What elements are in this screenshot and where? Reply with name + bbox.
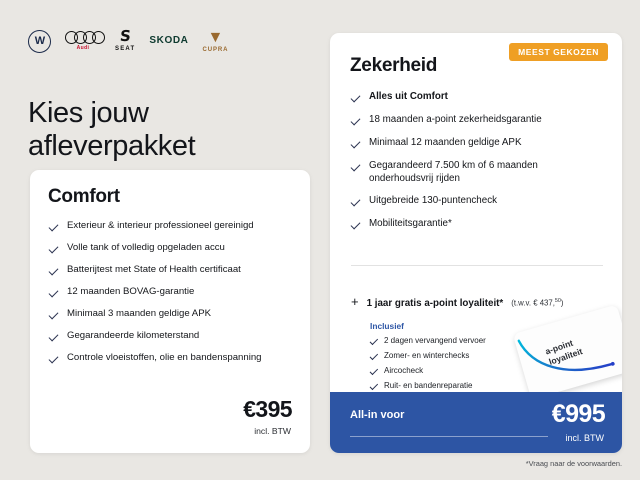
skoda-logo: SKODA — [149, 36, 188, 46]
seat-logo: S SEAT — [115, 30, 135, 52]
list-item: Uitgebreide 130-puntencheck — [351, 195, 603, 208]
cupra-tribal-icon: ▼ — [207, 30, 223, 46]
inclusief-item-text: Zomer- en winterchecks — [384, 351, 469, 360]
loyalty-value-suffix: ) — [561, 299, 564, 308]
feature-text: Minimaal 3 maanden geldige APK — [67, 308, 211, 320]
list-item: Batterijtest met State of Health certifi… — [49, 264, 297, 277]
check-icon — [351, 221, 361, 231]
audi-rings-icon — [65, 31, 101, 44]
list-item: Exterieur & interieur professioneel gere… — [49, 220, 297, 233]
zekerheid-feature-list: Alles uit Comfort 18 maanden a-point zek… — [351, 91, 603, 241]
zekerheid-package-card[interactable]: MEEST GEKOZEN Zekerheid Alles uit Comfor… — [330, 33, 622, 453]
loyalty-card-graphic: a-point loyaliteit — [513, 304, 622, 399]
comfort-price-note: incl. BTW — [254, 426, 291, 436]
zekerheid-card-title: Zekerheid — [350, 55, 437, 77]
list-item: Volle tank of volledig opgeladen accu — [49, 242, 297, 255]
inclusief-item-text: Ruit- en bandenreparatie — [384, 381, 473, 390]
audi-wordmark: Audi — [77, 46, 90, 51]
seat-wordmark: SEAT — [115, 46, 135, 52]
feature-text: Exterieur & interieur professioneel gere… — [67, 220, 254, 232]
feature-text: Gegarandeerd 7.500 km of 6 maanden onder… — [369, 160, 603, 185]
allin-label: All-in voor — [350, 409, 404, 421]
page-title: Kies jouw afleverpakket — [28, 97, 308, 162]
footer-rule — [350, 436, 548, 437]
list-item: Minimaal 12 maanden geldige APK — [351, 137, 603, 150]
check-icon — [49, 289, 59, 299]
zekerheid-price-note: incl. BTW — [565, 433, 604, 443]
zekerheid-price: €995 — [552, 402, 605, 427]
audi-logo: Audi — [65, 31, 101, 51]
list-item: Controle vloeistoffen, olie en bandenspa… — [49, 352, 297, 365]
list-item: 18 maanden a-point zekerheidsgarantie — [351, 114, 603, 127]
check-icon — [351, 117, 361, 127]
feature-text: 18 maanden a-point zekerheidsgarantie — [369, 114, 542, 127]
check-icon — [351, 140, 361, 150]
loyalty-value: (t.w.v. € 437,50) — [511, 298, 563, 308]
list-item: Minimaal 3 maanden geldige APK — [49, 308, 297, 321]
feature-text: Gegarandeerde kilometerstand — [67, 330, 199, 342]
loyalty-offer-row: + 1 jaar gratis a-point loyaliteit* (t.w… — [351, 295, 617, 309]
list-item: Mobiliteitsgarantie* — [351, 218, 603, 231]
feature-text: Alles uit Comfort — [369, 91, 448, 104]
check-icon — [49, 223, 59, 233]
list-item: Alles uit Comfort — [351, 91, 603, 104]
volkswagen-logo: W — [28, 30, 51, 53]
check-icon — [49, 267, 59, 277]
vw-roundel-icon: W — [28, 30, 51, 53]
check-icon — [49, 355, 59, 365]
inclusief-item-text: Aircocheck — [384, 366, 423, 375]
list-item: Gegarandeerd 7.500 km of 6 maanden onder… — [351, 160, 603, 185]
seat-s-icon: S — [119, 30, 131, 44]
brand-logo-strip: W Audi S SEAT SKODA ▼ CUPRA — [28, 27, 228, 55]
loyalty-title: 1 jaar gratis a-point loyaliteit* — [367, 298, 504, 309]
loyalty-value-prefix: (t.w.v. € 437, — [511, 299, 555, 308]
feature-text: Minimaal 12 maanden geldige APK — [369, 137, 522, 150]
zekerheid-price-footer: All-in voor €995 incl. BTW — [330, 392, 622, 453]
feature-text: 12 maanden BOVAG-garantie — [67, 286, 194, 298]
check-icon — [370, 353, 378, 361]
check-icon — [49, 245, 59, 255]
feature-text: Volle tank of volledig opgeladen accu — [67, 242, 225, 254]
plus-icon: + — [351, 295, 359, 308]
comfort-feature-list: Exterieur & interieur professioneel gere… — [49, 220, 297, 374]
cupra-logo: ▼ CUPRA — [202, 30, 228, 53]
feature-text: Controle vloeistoffen, olie en bandenspa… — [67, 352, 262, 364]
status-badge: MEEST GEKOZEN — [509, 43, 608, 61]
comfort-price: €395 — [243, 398, 292, 421]
page-root: W Audi S SEAT SKODA ▼ CUPRA Kies jouw af… — [0, 0, 640, 480]
divider — [351, 265, 603, 266]
skoda-wordmark: SKODA — [149, 36, 188, 46]
check-icon — [370, 383, 378, 391]
feature-text: Uitgebreide 130-puntencheck — [369, 195, 497, 208]
check-icon — [351, 163, 361, 173]
feature-text: Mobiliteitsgarantie* — [369, 218, 452, 231]
footnote: *Vraag naar de voorwaarden. — [526, 459, 622, 468]
comfort-package-card[interactable]: Comfort Exterieur & interieur profession… — [30, 170, 310, 453]
check-icon — [370, 338, 378, 346]
check-icon — [370, 368, 378, 376]
check-icon — [351, 198, 361, 208]
inclusief-item-text: 2 dagen vervangend vervoer — [384, 336, 486, 345]
check-icon — [351, 94, 361, 104]
check-icon — [49, 333, 59, 343]
list-item: 12 maanden BOVAG-garantie — [49, 286, 297, 299]
cupra-wordmark: CUPRA — [202, 47, 228, 53]
comfort-card-title: Comfort — [48, 186, 120, 208]
check-icon — [49, 311, 59, 321]
list-item: Gegarandeerde kilometerstand — [49, 330, 297, 343]
feature-text: Batterijtest met State of Health certifi… — [67, 264, 241, 276]
